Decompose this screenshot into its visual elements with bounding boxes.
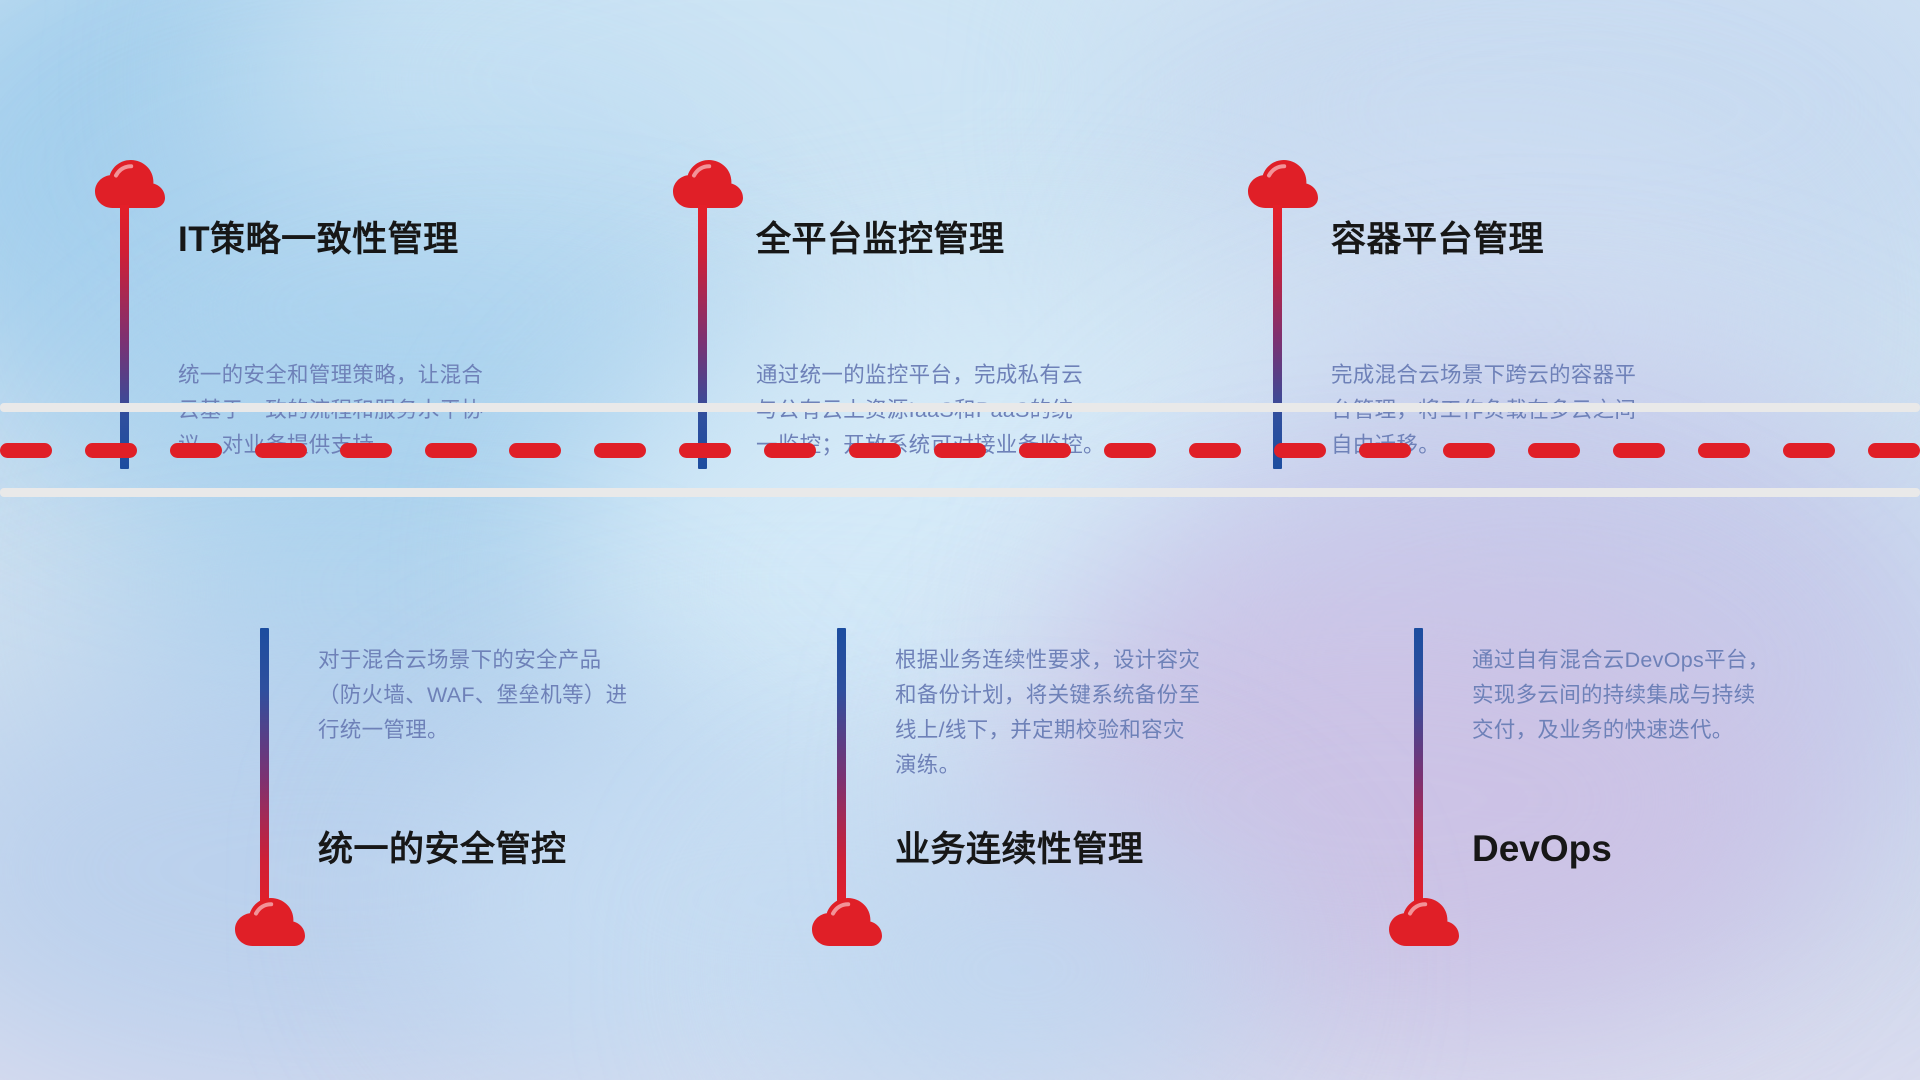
timeline-pin-line <box>1414 628 1423 913</box>
dash-segment <box>340 443 392 458</box>
dash-segment <box>1359 443 1411 458</box>
dash-segment <box>0 443 52 458</box>
dash-segment <box>1698 443 1750 458</box>
dash-segment <box>1613 443 1665 458</box>
timeline-pin-line <box>698 205 707 469</box>
dash-segment <box>509 443 561 458</box>
dash-segment <box>1528 443 1580 458</box>
dash-segment <box>1189 443 1241 458</box>
dash-segment <box>1274 443 1326 458</box>
dash-segment <box>1783 443 1835 458</box>
cloud-icon <box>1389 898 1459 948</box>
item-title: 容器平台管理 <box>1331 222 1544 257</box>
cloud-icon <box>1248 160 1318 210</box>
cloud-icon <box>95 160 165 210</box>
timeline-pin-line <box>120 205 129 469</box>
item-description: 通过自有混合云DevOps平台， 实现多云间的持续集成与持续 交付，及业务的快速… <box>1472 643 1902 748</box>
dash-segment <box>764 443 816 458</box>
item-title: 统一的安全管控 <box>318 832 567 867</box>
item-title: 业务连续性管理 <box>895 832 1144 867</box>
dash-segment <box>934 443 986 458</box>
item-title: IT策略一致性管理 <box>178 222 459 257</box>
item-description: 对于混合云场景下的安全产品 （防火墙、WAF、堡垒机等）进 行统一管理。 <box>318 643 748 748</box>
item-title: 全平台监控管理 <box>756 222 1005 257</box>
dash-segment <box>1868 443 1920 458</box>
dash-segment <box>594 443 646 458</box>
item-title: DevOps <box>1472 830 1612 867</box>
divider-rule-top <box>0 403 1920 412</box>
dash-segment <box>255 443 307 458</box>
cloud-icon <box>235 898 305 948</box>
dash-segment <box>849 443 901 458</box>
timeline-pin-line <box>837 628 846 913</box>
dashed-separator <box>0 443 1920 458</box>
divider-rule-bottom <box>0 488 1920 497</box>
timeline-pin-line <box>1273 205 1282 469</box>
dash-segment <box>1104 443 1156 458</box>
dash-segment <box>425 443 477 458</box>
cloud-icon <box>673 160 743 210</box>
timeline-pin-line <box>260 628 269 913</box>
item-description: 根据业务连续性要求，设计容灾 和备份计划，将关键系统备份至 线上/线下，并定期校… <box>895 643 1325 783</box>
dash-segment <box>85 443 137 458</box>
dash-segment <box>679 443 731 458</box>
dash-segment <box>170 443 222 458</box>
cloud-icon <box>812 898 882 948</box>
dash-segment <box>1443 443 1495 458</box>
dash-segment <box>1019 443 1071 458</box>
